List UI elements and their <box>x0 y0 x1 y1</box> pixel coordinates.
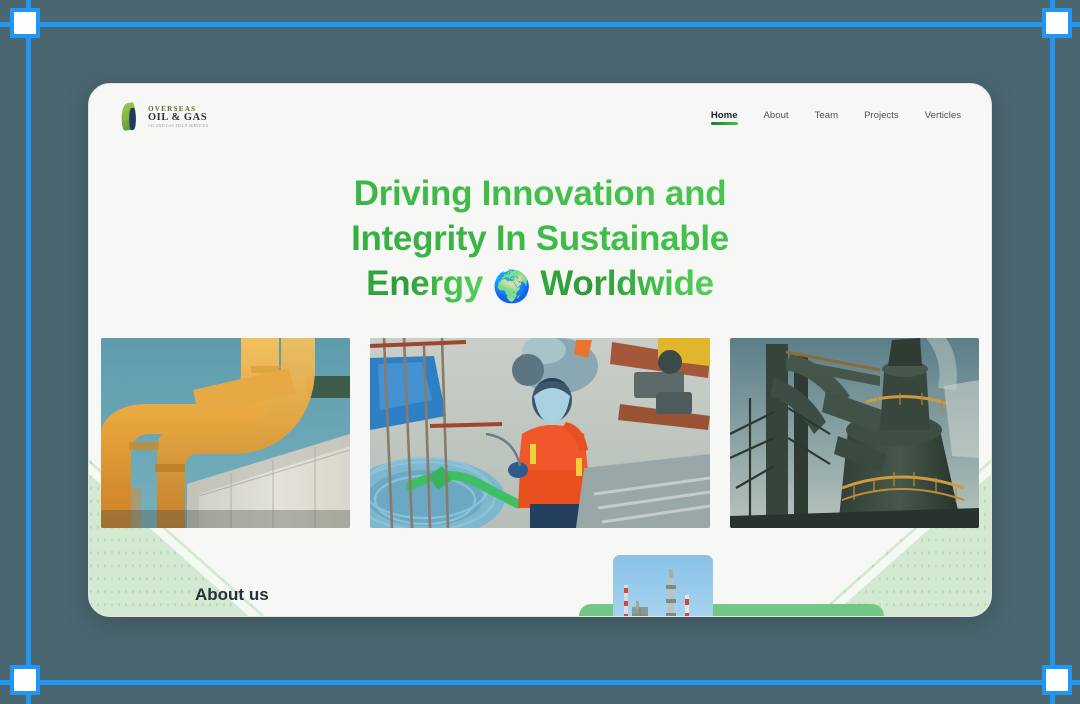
leaf-logo-icon <box>121 102 143 132</box>
logo-wordmark: OVERSEAS OIL & GAS OIL AND GAS FIELD SER… <box>148 106 208 129</box>
hero-section: Driving Innovation and Integrity In Sust… <box>89 150 991 617</box>
site-logo[interactable]: OVERSEAS OIL & GAS OIL AND GAS FIELD SER… <box>121 102 208 132</box>
nav-item-team[interactable]: Team <box>815 110 838 125</box>
about-heading: About us <box>195 585 269 605</box>
nav-item-home[interactable]: Home <box>711 110 738 125</box>
blast-furnace-photo <box>730 338 979 528</box>
logo-line-oilgas: OIL & GAS <box>148 113 208 124</box>
globe-icon: 🌍 <box>492 269 530 304</box>
hero-headline: Driving Innovation and Integrity In Sust… <box>89 172 991 306</box>
site-header: OVERSEAS OIL & GAS OIL AND GAS FIELD SER… <box>89 84 991 150</box>
selection-handle-top-left[interactable] <box>10 8 40 38</box>
hero-headline-line-3: Energy 🌍 Worldwide <box>89 262 991 307</box>
main-navigation: Home About Team Projects Verticles <box>711 110 961 125</box>
hero-gallery <box>89 324 991 528</box>
selection-frame-bottom <box>0 680 1080 685</box>
selection-frame-right <box>1050 0 1055 704</box>
construction-workers-photo <box>370 338 710 528</box>
refinery-photo <box>613 555 713 617</box>
logo-line-tagline: OIL AND GAS FIELD SERVICES <box>148 125 208 129</box>
website-preview-card: OVERSEAS OIL & GAS OIL AND GAS FIELD SER… <box>88 83 992 617</box>
selection-handle-bottom-left[interactable] <box>10 665 40 695</box>
hero-headline-energy: Energy <box>366 264 483 303</box>
selection-handle-top-right[interactable] <box>1042 8 1072 38</box>
nav-item-about[interactable]: About <box>764 110 789 125</box>
hero-headline-worldwide: Worldwide <box>540 264 714 303</box>
selection-handle-bottom-right[interactable] <box>1042 665 1072 695</box>
nav-item-verticles[interactable]: Verticles <box>925 110 961 125</box>
industrial-pipes-photo <box>101 338 350 528</box>
nav-item-projects[interactable]: Projects <box>864 110 899 125</box>
hero-headline-line-2: Integrity In Sustainable <box>89 217 991 262</box>
selection-frame-top <box>0 22 1080 27</box>
hero-headline-line-1: Driving Innovation and <box>89 172 991 217</box>
selection-frame-left <box>26 0 31 704</box>
